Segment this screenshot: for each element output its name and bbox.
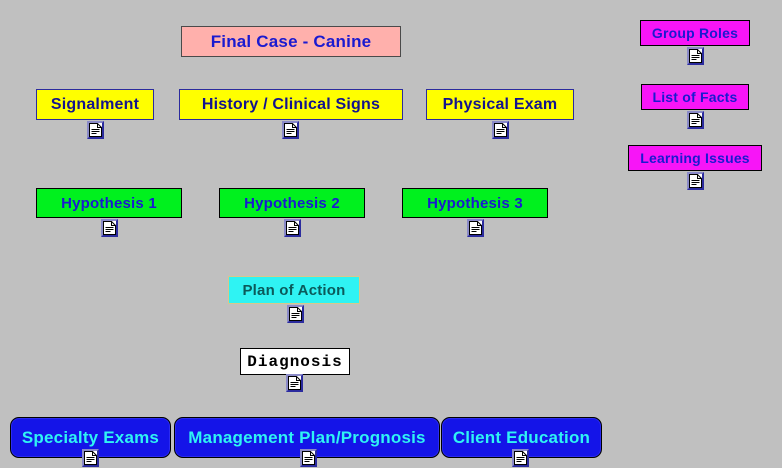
document-icon-history-clinical-signs[interactable]: [282, 121, 299, 139]
document-icon-management-plan-prognosis[interactable]: [300, 449, 317, 467]
document-icon-hypothesis-1[interactable]: [101, 219, 118, 237]
document-icon-hypothesis-3[interactable]: [467, 219, 484, 237]
node-group-roles[interactable]: Group Roles: [640, 20, 750, 46]
document-icon-group-roles[interactable]: [687, 47, 704, 65]
document-icon-hypothesis-2[interactable]: [284, 219, 301, 237]
case-map-canvas: Final Case - Canine Signalment History /…: [0, 0, 782, 468]
node-hypothesis-3[interactable]: Hypothesis 3: [402, 188, 548, 218]
document-icon-specialty-exams[interactable]: [82, 449, 99, 467]
node-hypothesis-2[interactable]: Hypothesis 2: [219, 188, 365, 218]
document-icon-list-of-facts[interactable]: [687, 111, 704, 129]
page-title: Final Case - Canine: [181, 26, 401, 57]
node-history-clinical-signs[interactable]: History / Clinical Signs: [179, 89, 403, 120]
document-icon-client-education[interactable]: [512, 449, 529, 467]
document-icon-signalment[interactable]: [87, 121, 104, 139]
node-list-of-facts[interactable]: List of Facts: [641, 84, 749, 110]
node-physical-exam[interactable]: Physical Exam: [426, 89, 574, 120]
document-icon-physical-exam[interactable]: [492, 121, 509, 139]
document-icon-diagnosis[interactable]: [286, 374, 303, 392]
node-hypothesis-1[interactable]: Hypothesis 1: [36, 188, 182, 218]
document-icon-learning-issues[interactable]: [687, 172, 704, 190]
node-learning-issues[interactable]: Learning Issues: [628, 145, 762, 171]
node-signalment[interactable]: Signalment: [36, 89, 154, 120]
node-plan-of-action[interactable]: Plan of Action: [228, 276, 360, 304]
document-icon-plan-of-action[interactable]: [287, 305, 304, 323]
node-diagnosis[interactable]: Diagnosis: [240, 348, 350, 375]
